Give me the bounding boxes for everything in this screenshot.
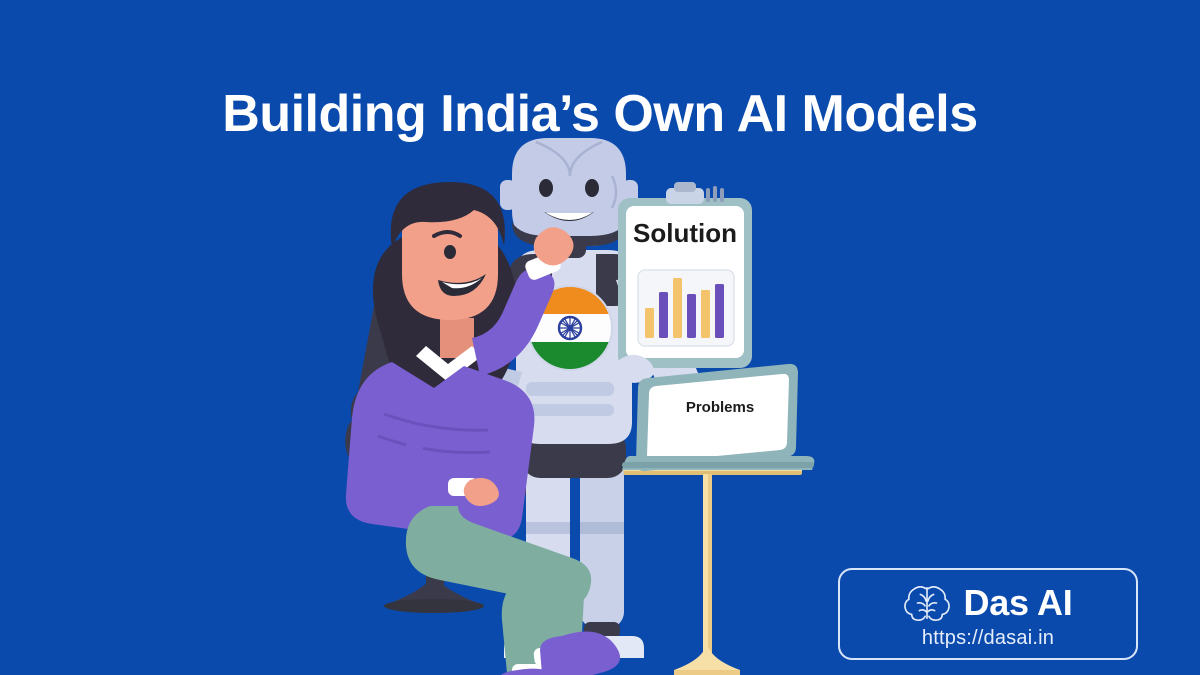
laptop: Problems — [622, 364, 814, 471]
brand-name: Das AI — [964, 585, 1073, 621]
laptop-screen-text: Problems — [686, 399, 754, 416]
logo-badge[interactable]: Das AI https://dasai.in — [838, 568, 1138, 660]
hero-illustration: Solution Problem — [330, 130, 850, 675]
poster-canvas: Building India’s Own AI Models — [0, 0, 1200, 675]
clipboard-heading: Solution — [633, 218, 737, 248]
table — [616, 463, 802, 675]
solution-clipboard: Solution — [618, 182, 752, 368]
badge-row: Das AI — [904, 583, 1073, 623]
brain-icon — [904, 583, 950, 623]
brand-url[interactable]: https://dasai.in — [922, 628, 1054, 648]
